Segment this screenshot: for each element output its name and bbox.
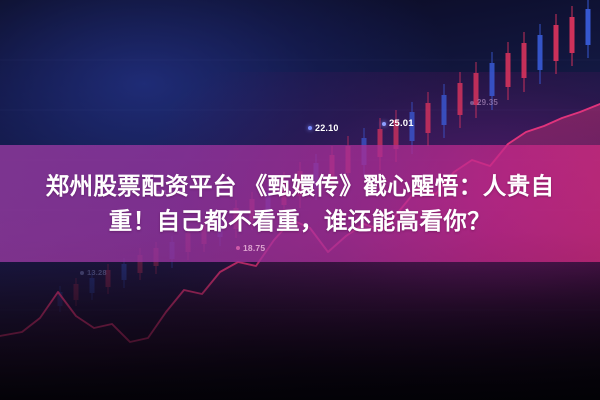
price-marker-dot: [470, 101, 474, 105]
price-label-22-10: 22.10: [308, 123, 339, 133]
headline-line-2: 重！自己都不看重，谁还能高看你？: [109, 204, 491, 239]
headline-line-1: 郑州股票配资平台 《甄嬛传》戳心醒悟：人贵自: [46, 169, 555, 204]
headline-block: 郑州股票配资平台 《甄嬛传》戳心醒悟：人贵自 重！自己都不看重，谁还能高看你？: [0, 152, 600, 256]
price-label-value: 29.35: [477, 98, 498, 107]
price-label-29-35: 29.35: [470, 98, 498, 107]
price-marker-dot: [308, 126, 312, 130]
price-label-value: 25.01: [389, 118, 414, 129]
price-label-25-01: 25.01: [382, 118, 414, 129]
price-label-value: 22.10: [315, 123, 339, 133]
price-marker-dot: [80, 271, 84, 275]
price-label-value: 13.28: [87, 268, 107, 277]
banner-stage: 13.28 19.07 29.35 22.10 25.01 18.75 郑州股票…: [0, 0, 600, 400]
price-marker-dot: [382, 122, 386, 126]
price-label-13-28: 13.28: [80, 268, 107, 277]
